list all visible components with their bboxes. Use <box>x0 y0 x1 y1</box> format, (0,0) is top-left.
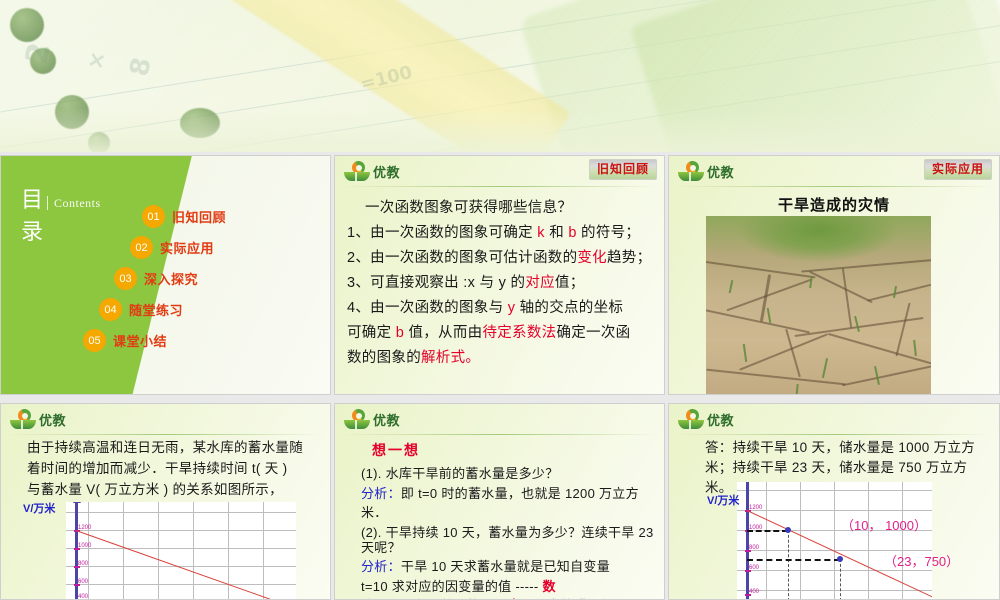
brand-logo: 优教 <box>678 161 734 181</box>
toc-item-1[interactable]: 01 旧知回顾 <box>142 205 226 228</box>
book-swoosh-icon <box>678 161 704 181</box>
book-swoosh-icon <box>678 409 704 429</box>
toc-number-badge-5: 05 <box>83 329 106 352</box>
think-a1: 分析：即 t=0 时的蓄水量，也就是 1200 万立方 <box>361 484 663 504</box>
chart-y-label-1200: 1200 <box>78 525 91 531</box>
chart-y-label-1000: 1000 <box>78 543 91 549</box>
gridline-v <box>766 482 767 600</box>
guide-line-h-point-2 <box>747 559 840 561</box>
brand-logo: 优教 <box>344 161 400 181</box>
think-a1-cont: 米． <box>361 503 663 523</box>
review-line-5-c: 可确定 <box>347 325 396 341</box>
review-line-5-d: 值，从而由 <box>404 325 482 341</box>
toc-label-1: 旧知回顾 <box>172 207 226 226</box>
think-a2-line3: 体现在图象上就是找一个点，使点的横坐标 <box>361 596 663 600</box>
toc-label-3: 深入探究 <box>144 269 198 288</box>
review-body: 一次函数图象可获得哪些信息？ 1、由一次函数的图象可确定 k 和 b 的符号； … <box>347 196 659 371</box>
chart-reservoir-left: 1200 1000 800 600 400 <box>66 502 296 600</box>
book-swoosh-icon <box>344 409 370 429</box>
think-a2-text: 干旱 10 天求蓄水量就是已知自变量 <box>401 559 610 574</box>
book-swoosh-icon <box>344 161 370 181</box>
drought-title: 干旱造成的灾情 <box>669 194 999 215</box>
panel-drought[interactable]: 优教 实际应用 干旱造成的灾情 <box>668 155 1000 395</box>
chart-y-axis-caption-left: V/万米 <box>23 500 55 516</box>
review-line-4: 4、由一次函数的图象与 y 轴的交点的坐标 <box>347 296 659 321</box>
review-line-2: 2、由一次函数的图象可估计函数的变化趋势； <box>347 246 659 271</box>
problem-line-3: 与蓄水量 V( 万立方米 ) 的关系如图所示， <box>27 479 327 500</box>
data-point-1 <box>785 527 791 533</box>
guide-line-h-point-1 <box>747 530 788 532</box>
brand-logo: 优教 <box>10 409 66 429</box>
chart-y-label-400: 400 <box>78 594 88 600</box>
chart-y-axis-caption-right: V/万米 <box>707 492 739 508</box>
guide-line-v-point-2 <box>840 559 841 600</box>
review-line-3-hl: 对应 <box>525 275 555 291</box>
review-line-6-g: 数的图象的 <box>347 350 421 366</box>
guide-line-v-point-1 <box>788 530 789 600</box>
answer-line-2: 米；持续干旱 23 天，储水量是 750 万立方 <box>705 458 997 478</box>
answer-line-1: 答：持续干旱 10 天，储水量是 1000 万立方 <box>705 438 997 458</box>
panel-think[interactable]: 优教 想一想 (1). 水库干旱前的蓄水量是多少？ 分析：即 t=0 时的蓄水量… <box>334 403 665 600</box>
gridline-h <box>66 548 296 549</box>
review-line-1-mid: 和 <box>545 225 568 241</box>
review-line-3-pre: 3、可直接观察出 :x 与 y 的 <box>347 275 525 291</box>
contents-title: 目Contents 录 <box>21 186 101 248</box>
toc-label-2: 实际应用 <box>160 238 214 257</box>
review-line-5-method: 待定系数法 <box>482 325 556 341</box>
toc-item-4[interactable]: 04 随堂练习 <box>99 298 183 321</box>
brand-logo-text: 优教 <box>373 410 400 429</box>
problem-body: 由于持续高温和连日无雨，某水库的蓄水量随 着时间的增加而减少．干旱持续时间 t(… <box>27 437 327 500</box>
think-q2b-row: 天呢？ <box>361 542 663 548</box>
review-line-1-k: k <box>537 225 545 241</box>
brand-logo: 优教 <box>344 409 400 429</box>
review-line-4-b: 轴的交点的坐标 <box>515 300 623 316</box>
brand-logo-text: 优教 <box>373 162 400 181</box>
chart-y-axis-arrow <box>73 502 81 503</box>
header-divider <box>7 434 324 435</box>
think-heading: 想一想 <box>372 440 420 460</box>
think-a1-tag: 分析： <box>361 486 401 501</box>
review-line-2-pre: 2、由一次函数的图象可估计函数的 <box>347 250 577 266</box>
data-point-label-1: （10， 1000） <box>841 516 931 536</box>
chart-y-axis <box>746 482 749 600</box>
status-badge-application: 实际应用 <box>925 160 991 179</box>
think-q1: (1). 水库干旱前的蓄水量是多少？ <box>361 464 663 484</box>
gridline-h <box>66 512 296 513</box>
review-line-6-expr: 解析式。 <box>421 350 480 366</box>
drought-photo <box>706 216 931 395</box>
chart-y-label-800: 800 <box>749 545 759 551</box>
chart-y-label-600: 600 <box>749 565 759 571</box>
toc-number-badge-4: 04 <box>99 298 122 321</box>
review-line-5-f: 确定一次函 <box>556 325 630 341</box>
review-line-1: 1、由一次函数的图象可确定 k 和 b 的符号； <box>347 221 659 246</box>
panel-answer[interactable]: 优教 答：持续干旱 10 天，储水量是 1000 万立方 米；持续干旱 23 天… <box>668 403 1000 600</box>
toc-item-5[interactable]: 05 课堂小结 <box>83 329 167 352</box>
toc-number-badge-3: 03 <box>114 267 137 290</box>
toc-number-badge-1: 01 <box>142 205 165 228</box>
contents-title-char-1: 目 <box>21 188 44 213</box>
review-line-3-post: 值； <box>555 275 585 291</box>
header-divider <box>341 186 658 187</box>
problem-line-1: 由于持续高温和连日无雨，某水库的蓄水量随 <box>27 437 327 458</box>
gridline-v <box>834 482 835 600</box>
gridline-h <box>737 510 932 511</box>
gridline-v <box>800 482 801 600</box>
toc-number-badge-2: 02 <box>130 236 153 259</box>
think-a2-tag: 分析： <box>361 559 401 574</box>
gridline-v <box>263 502 264 600</box>
brand-logo-text: 优教 <box>707 410 734 429</box>
gridline-v <box>123 502 124 600</box>
review-line-1-b: b <box>568 225 576 241</box>
gridline-v <box>88 502 89 600</box>
gridline-v <box>158 502 159 600</box>
toc-item-2[interactable]: 02 实际应用 <box>130 236 214 259</box>
review-line-2-hl: 变化 <box>577 250 607 266</box>
gridline-v <box>868 482 869 600</box>
brand-logo-text: 优教 <box>39 410 66 429</box>
panel-contents[interactable]: 目Contents 录 01 旧知回顾 02 实际应用 03 深入探究 04 随… <box>0 155 331 395</box>
review-line-3: 3、可直接观察出 :x 与 y 的对应值； <box>347 271 659 296</box>
think-a2-cont: t=10 求对应的因变量的值 ----- 数 <box>361 577 663 597</box>
review-line-1-post: 的符号； <box>577 225 641 241</box>
gridline-h <box>66 584 296 585</box>
contents-title-char-2: 录 <box>21 220 44 245</box>
think-body: (1). 水库干旱前的蓄水量是多少？ 分析：即 t=0 时的蓄水量，也就是 12… <box>361 464 663 600</box>
panel-problem[interactable]: 优教 由于持续高温和连日无雨，某水库的蓄水量随 着时间的增加而减少．干旱持续时间… <box>0 403 331 600</box>
slide-grid-screenshot: 2 × 8 =100 目Contents 录 01 旧知回顾 02 实际应用 0… <box>0 0 1000 600</box>
chart-y-label-400: 400 <box>749 589 759 595</box>
review-line-5-bsym: b <box>396 325 404 341</box>
review-line-5: 可确定 b 值，从而由待定系数法确定一次函 <box>347 321 659 346</box>
review-heading: 一次函数图象可获得哪些信息？ <box>347 196 659 221</box>
book-swoosh-icon <box>10 409 36 429</box>
chart-reservoir-right: 1200 1000 800 600 400 <box>737 482 932 600</box>
brand-logo: 优教 <box>678 409 734 429</box>
brand-logo-text: 优教 <box>707 162 734 181</box>
gridline-v <box>193 502 194 600</box>
think-q2b: 天呢？ <box>361 538 401 558</box>
toc-item-3[interactable]: 03 深入探究 <box>114 267 198 290</box>
chart-y-label-600: 600 <box>78 579 88 585</box>
header-divider <box>675 434 993 435</box>
toc-label-4: 随堂练习 <box>129 300 183 319</box>
gridline-h <box>737 590 932 591</box>
panel-review[interactable]: 优教 旧知回顾 一次函数图象可获得哪些信息？ 1、由一次函数的图象可确定 k 和… <box>334 155 665 395</box>
review-line-1-pre: 1、由一次函数的图象可确定 <box>347 225 537 241</box>
data-point-label-2: （23，750） <box>884 552 964 572</box>
chart-y-label-800: 800 <box>78 561 88 567</box>
think-a1-text: 即 t=0 时的蓄水量，也就是 1200 万立方 <box>401 486 639 501</box>
banner-background-image: 2 × 8 =100 <box>0 0 1000 152</box>
status-badge-review: 旧知回顾 <box>590 160 656 179</box>
header-divider <box>675 186 993 187</box>
think-a2-text2: t=10 求对应的因变量的值 ----- <box>361 579 542 594</box>
contents-title-en: Contents <box>47 196 101 210</box>
gridline-h <box>66 530 296 531</box>
review-line-4-a: 4、由一次函数的图象与 <box>347 300 508 316</box>
chart-y-label-1200: 1200 <box>749 505 762 511</box>
review-line-6: 数的图象的解析式。 <box>347 346 659 371</box>
review-line-2-post: 趋势； <box>607 250 651 266</box>
toc-label-5: 课堂小结 <box>113 331 167 350</box>
problem-line-2: 着时间的增加而减少．干旱持续时间 t( 天 ) <box>27 458 327 479</box>
gridline-h <box>737 490 932 491</box>
think-a2-hl: 数 <box>542 579 555 594</box>
think-a2: 分析：干旱 10 天求蓄水量就是已知自变量 <box>361 557 663 577</box>
header-divider <box>341 434 658 435</box>
data-point-2 <box>837 556 843 562</box>
think-q2: (2). 干旱持续 10 天，蓄水量为多少？连续干旱 23 <box>361 523 663 543</box>
